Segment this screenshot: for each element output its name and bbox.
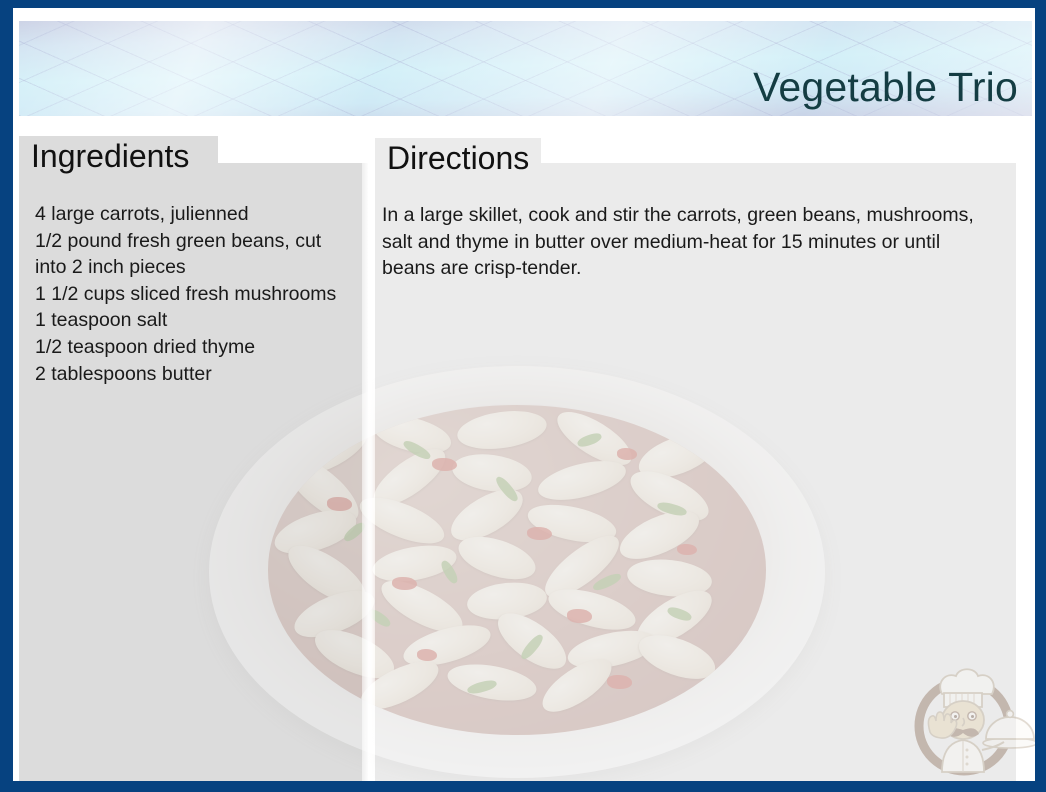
directions-body: In a large skillet, cook and stir the ca… [382, 202, 982, 282]
directions-heading: Directions [375, 138, 541, 179]
recipe-card: Vegetable Trio [0, 0, 1046, 792]
ingredients-list: 4 large carrots, julienned 1/2 pound fre… [35, 201, 351, 387]
page-title: Vegetable Trio [753, 67, 1018, 108]
ingredients-heading: Ingredients [19, 136, 218, 177]
recipe-page: Vegetable Trio [13, 8, 1035, 781]
chef-mascot-logo [906, 646, 1035, 780]
header-banner: Vegetable Trio [19, 21, 1032, 116]
